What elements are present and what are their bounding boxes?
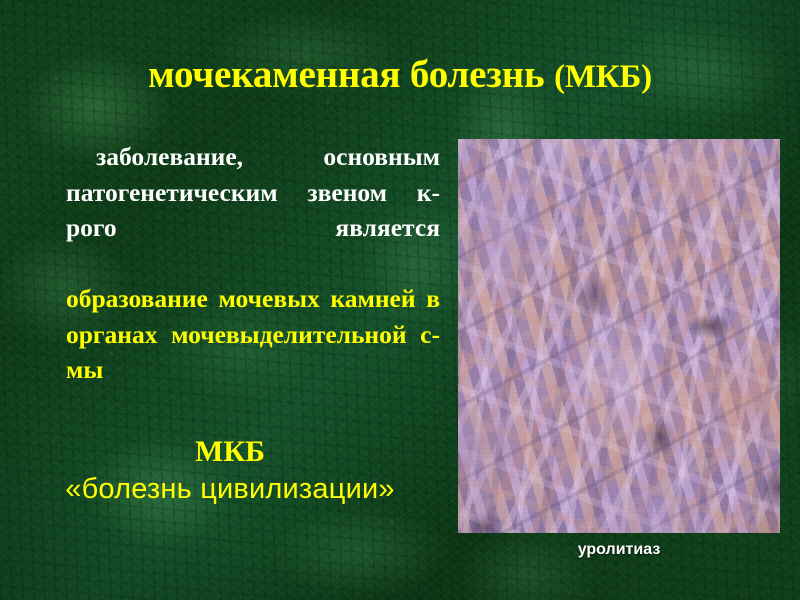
definition-text-block: заболевание, основным патогенетическим з… <box>66 139 440 423</box>
definition-paragraph-primary: заболевание, основным патогенетическим з… <box>66 139 440 281</box>
emphasis-block: МКБ «болезнь цивилизации» <box>50 434 410 507</box>
micrograph-vignette <box>458 139 780 533</box>
slide-title-main: мочекаменная болезнь <box>148 53 554 96</box>
emphasis-phrase: «болезнь цивилизации» <box>50 471 410 507</box>
slide-title-abbreviation: (МКБ) <box>554 59 652 95</box>
figure-caption: уролитиаз <box>458 540 780 560</box>
definition-paragraph-highlight: образование мочевых камней в органах моч… <box>66 281 440 423</box>
presentation-slide: мочекаменная болезнь (МКБ) заболевание, … <box>0 0 800 600</box>
crystal-micrograph-image <box>458 139 780 533</box>
emphasis-abbreviation: МКБ <box>50 434 410 469</box>
slide-title: мочекаменная болезнь (МКБ) <box>0 52 800 100</box>
